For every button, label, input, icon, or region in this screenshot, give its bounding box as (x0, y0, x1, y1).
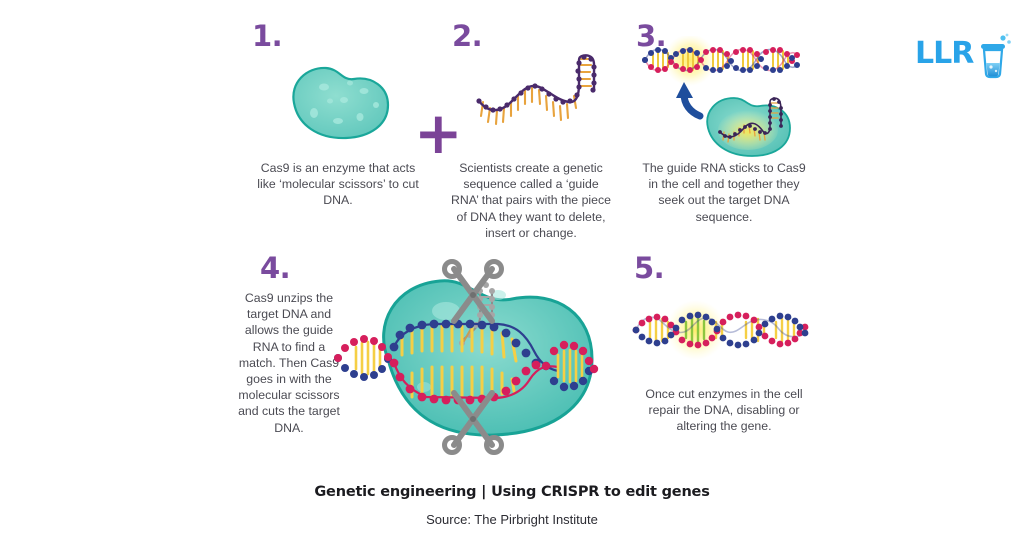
step-1-caption: Cas9 is an enzyme that acts like ‘molecu… (252, 160, 424, 209)
repaired-dna-helix (628, 300, 818, 360)
step-5-caption: Once cut enzymes in the cell repair the … (640, 386, 808, 435)
step-2-caption: Scientists create a genetic sequence cal… (450, 160, 612, 241)
guide-rna-strand (465, 52, 605, 152)
step-3-caption: The guide RNA sticks to Cas9 in the cell… (640, 160, 808, 225)
step-4-number: 4. (260, 254, 290, 283)
llr-logo[interactable]: LLR (915, 33, 1011, 81)
dna-helix-with-cas9-and-arrow (640, 36, 820, 161)
footer-source: Source: The Pirbright Institute (0, 512, 1024, 527)
step-4-caption: Cas9 unzips the target DNA and allows th… (234, 290, 344, 436)
infographic-canvas: 1. Cas9 is an enzyme that acts like ‘mol… (0, 0, 1024, 538)
cas9-enzyme-blob (280, 55, 400, 145)
logo-text: LLR (915, 39, 973, 69)
step-2-number: 2. (452, 22, 482, 51)
plus-operator-icon: + (414, 104, 463, 162)
step-1-number: 1. (252, 22, 282, 51)
beaker-icon (973, 33, 1013, 79)
footer-title: Genetic engineering | Using CRISPR to ed… (0, 484, 1024, 500)
cas9-unzipping-dna-with-scissors (330, 255, 620, 455)
step-5-number: 5. (634, 254, 664, 283)
